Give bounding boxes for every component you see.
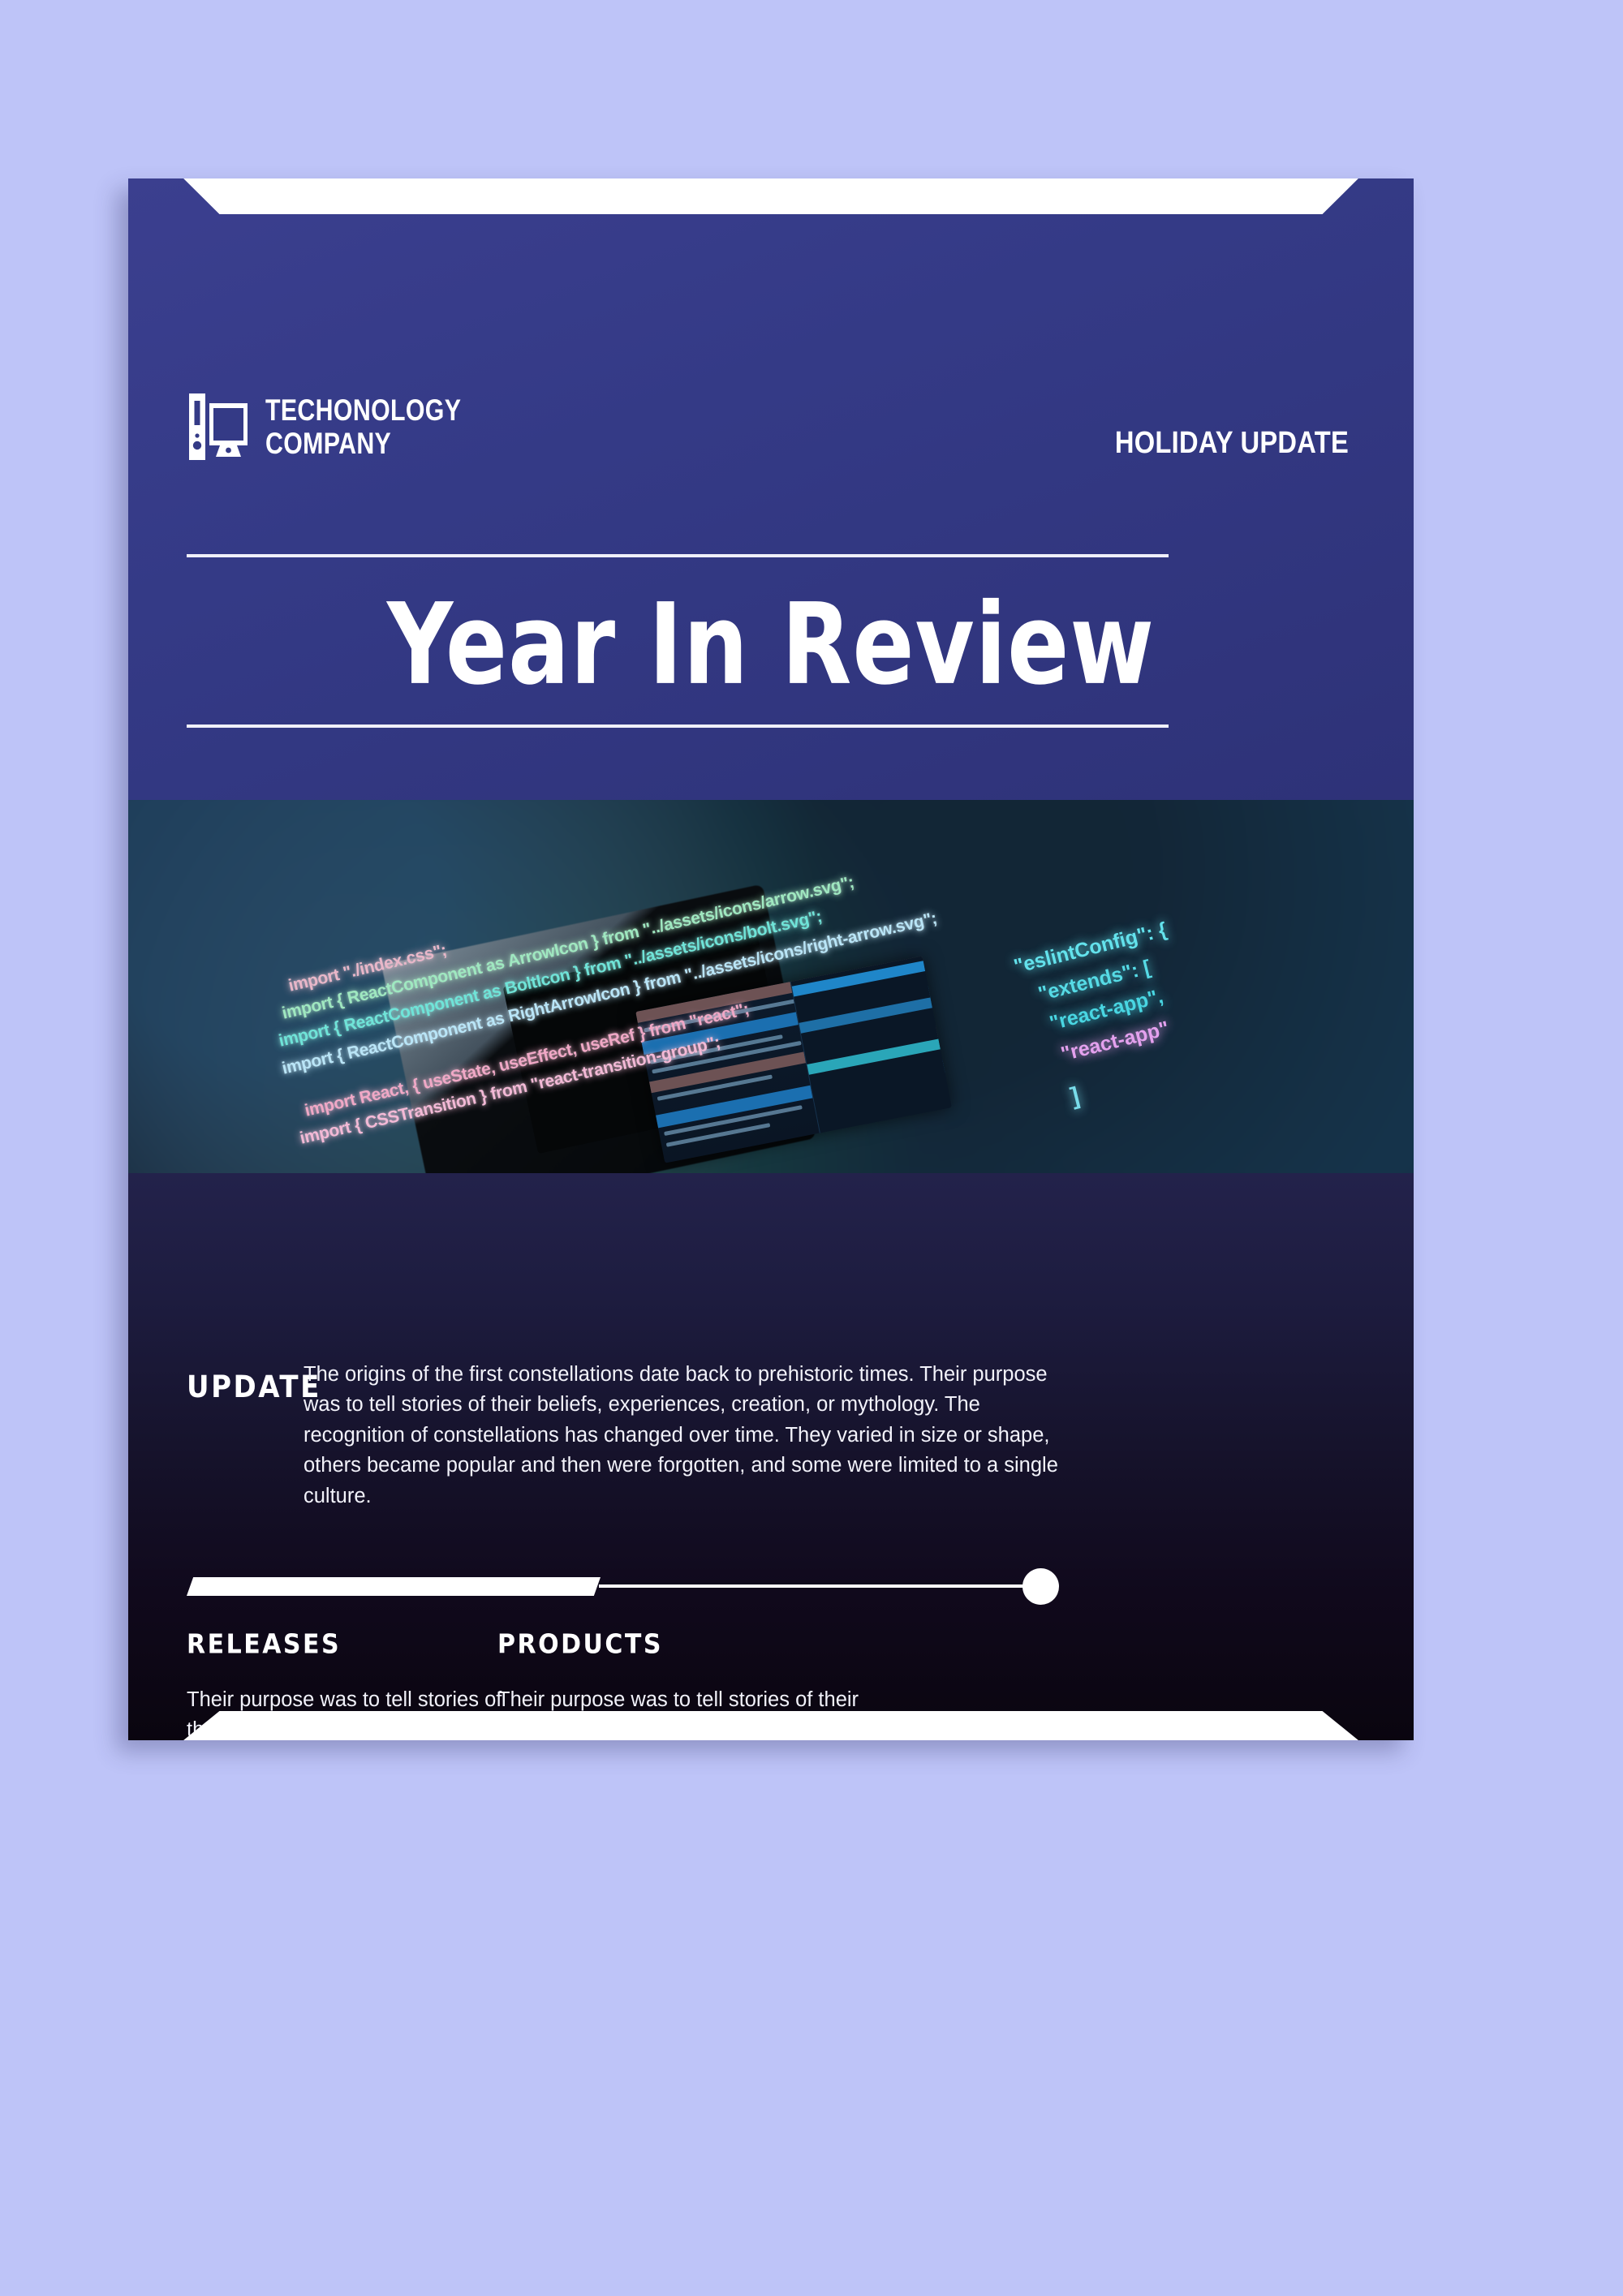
body-section: UPDATE The origins of the first constell… [128, 1173, 1414, 1740]
column-products: PRODUCTS Their purpose was to tell stori… [497, 1629, 863, 1740]
column-body: Their purpose was to tell stories of the… [187, 1685, 536, 1740]
column-body: Their purpose was to tell stories of the… [497, 1685, 863, 1740]
hero-image: import "./index.css"; import { ReactComp… [128, 800, 1414, 1173]
hero-code-line: ] [1068, 1082, 1083, 1111]
brand-name: TECHONOLOGY COMPANY [265, 393, 461, 461]
header-section: TECHONOLOGY COMPANY HOLIDAY UPDATE Year … [128, 178, 1414, 800]
flyer-page: TECHONOLOGY COMPANY HOLIDAY UPDATE Year … [128, 178, 1414, 1740]
divider-arrow-bar [187, 1569, 1355, 1605]
divider-slab [187, 1577, 601, 1596]
column-label: RELEASES [187, 1629, 536, 1661]
desktop-computer-icon [189, 393, 248, 460]
header-kicker: HOLIDAY UPDATE [1115, 426, 1349, 461]
top-notch-decoration [128, 178, 1414, 214]
brand-lockup: TECHONOLOGY COMPANY [189, 393, 504, 461]
divider-stem [599, 1584, 1029, 1588]
title-rule-bottom [187, 724, 1169, 728]
page-title: Year In Review [154, 588, 1388, 700]
column-releases: RELEASES Their purpose was to tell stori… [187, 1629, 536, 1740]
top-notch-shape [128, 178, 1414, 214]
update-label: UPDATE [187, 1369, 321, 1405]
hero-code-overlay: import "./index.css"; import { ReactComp… [128, 800, 1414, 1173]
update-body: The origins of the first constellations … [304, 1360, 1066, 1511]
title-rule-top [187, 554, 1169, 557]
divider-dot [1022, 1568, 1059, 1605]
column-label: PRODUCTS [497, 1629, 863, 1661]
